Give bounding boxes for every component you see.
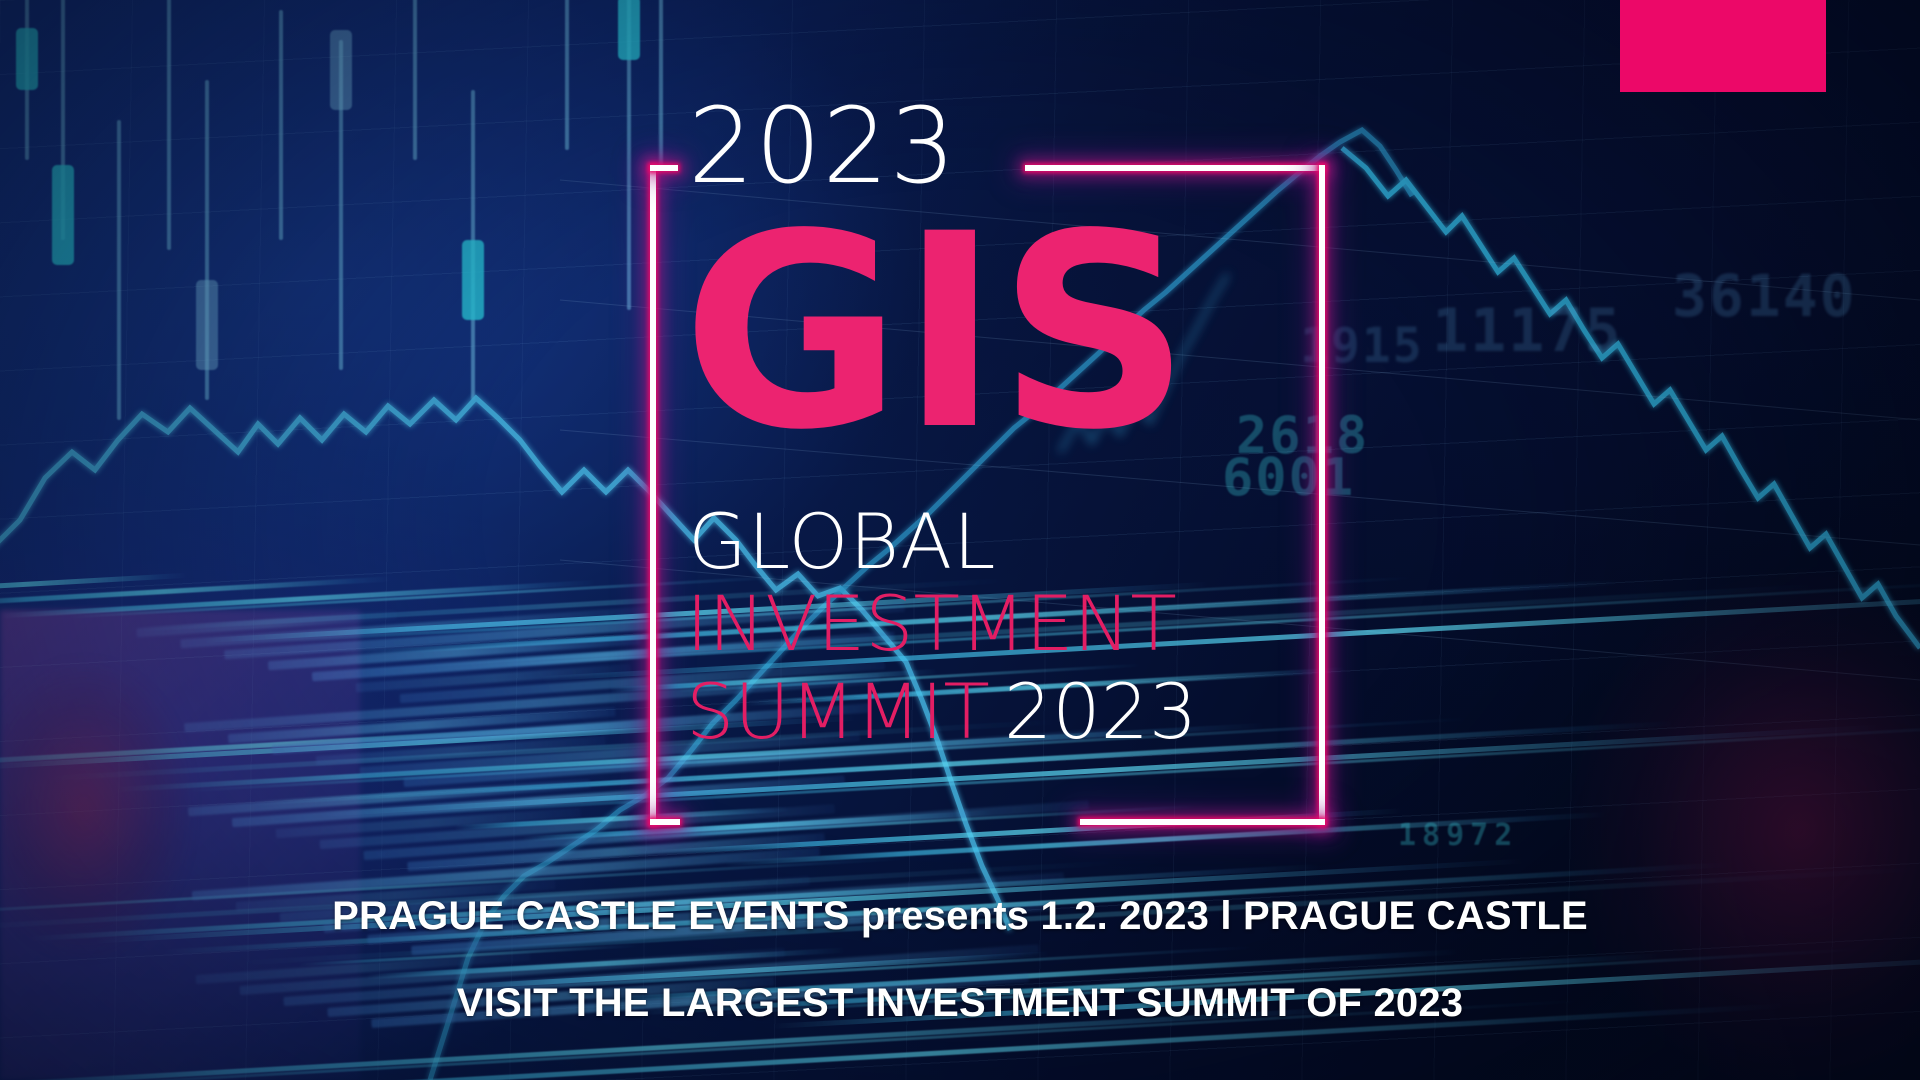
logo-line-global: GLOBAL [688,504,996,580]
headline-line-1: PRAGUE CASTLE EVENTS presents 1.2. 2023 … [0,896,1920,936]
background-number-11175: 11175 [1432,296,1623,366]
background-number-18972: 18972 [1398,818,1518,853]
gis-logo: 2023 GIS GLOBAL INVESTMENT SUMMIT2023 [610,118,1310,808]
logo-summit-word: SUMMIT [686,667,990,756]
bracket-bottom-left-segment [650,819,680,825]
headline-line-2: VISIT THE LARGEST INVESTMENT SUMMIT OF 2… [0,983,1920,1023]
headline-block: PRAGUE CASTLE EVENTS presents 1.2. 2023 … [0,896,1920,1023]
logo-acronym: GIS [682,210,1189,457]
event-poster: 11175 36140 2618 6001 1915 18972 2023 GI… [0,0,1920,1080]
background-number-36140: 36140 [1672,262,1857,330]
logo-summit-year: 2023 [1004,667,1197,756]
logo-line-investment: INVESTMENT [686,586,1177,662]
logo-line-summit: SUMMIT2023 [686,674,1197,750]
bracket-right-segment [1319,165,1325,825]
pink-color-block [1620,0,1826,92]
bracket-bottom-right-segment [1080,819,1325,825]
